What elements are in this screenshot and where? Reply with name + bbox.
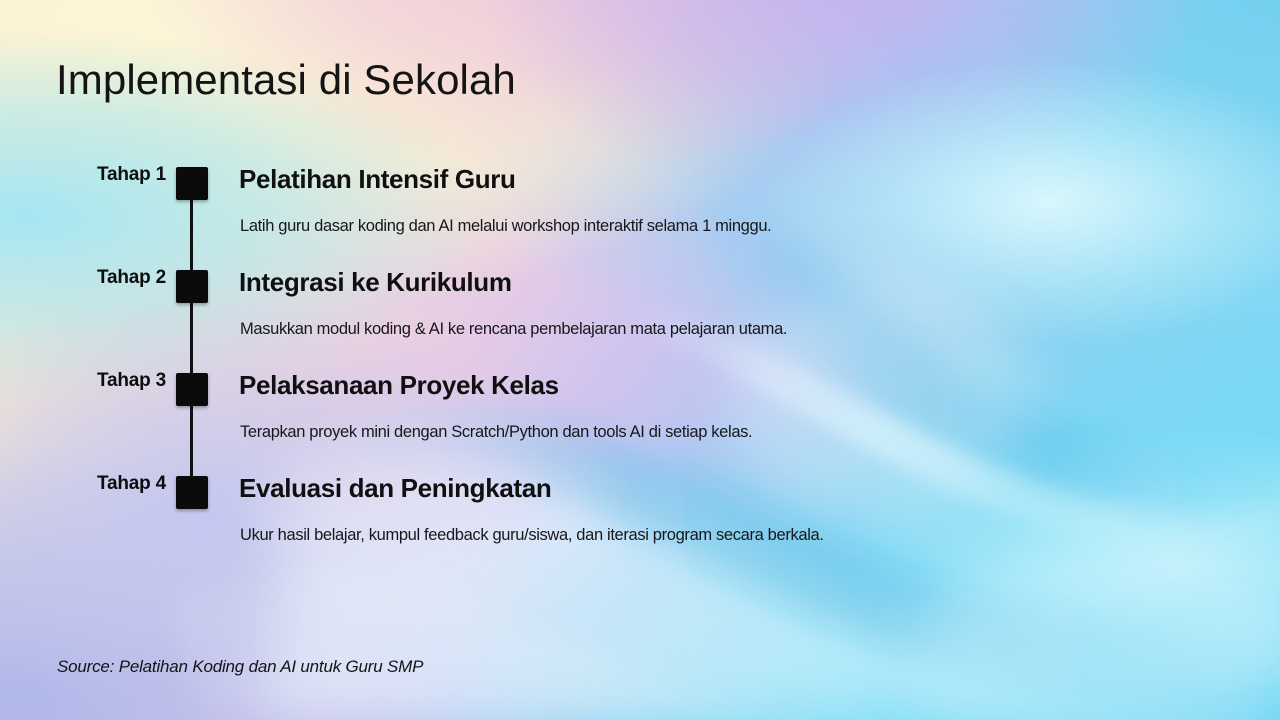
step-label: Tahap 4 [0, 473, 166, 495]
source-note: Source: Pelatihan Koding dan AI untuk Gu… [57, 657, 423, 677]
step-description: Terapkan proyek mini dengan Scratch/Pyth… [240, 423, 752, 442]
timeline-spine [190, 184, 193, 496]
step-heading: Pelatihan Intensif Guru [239, 164, 516, 195]
step-marker[interactable] [176, 167, 208, 200]
step-description: Masukkan modul koding & AI ke rencana pe… [240, 320, 787, 339]
step-heading: Evaluasi dan Peningkatan [239, 473, 551, 504]
step-heading: Integrasi ke Kurikulum [239, 267, 512, 298]
step-marker[interactable] [176, 476, 208, 509]
step-label: Tahap 2 [0, 267, 166, 289]
step-marker[interactable] [176, 373, 208, 406]
step-label: Tahap 3 [0, 370, 166, 392]
step-description: Latih guru dasar koding dan AI melalui w… [240, 217, 771, 236]
step-label: Tahap 1 [0, 164, 166, 186]
timeline: Tahap 1 Pelatihan Intensif Guru Latih gu… [0, 0, 1280, 720]
step-marker[interactable] [176, 270, 208, 303]
slide-canvas: Implementasi di Sekolah Tahap 1 Pelatiha… [0, 0, 1280, 720]
step-description: Ukur hasil belajar, kumpul feedback guru… [240, 526, 824, 545]
step-heading: Pelaksanaan Proyek Kelas [239, 370, 559, 401]
